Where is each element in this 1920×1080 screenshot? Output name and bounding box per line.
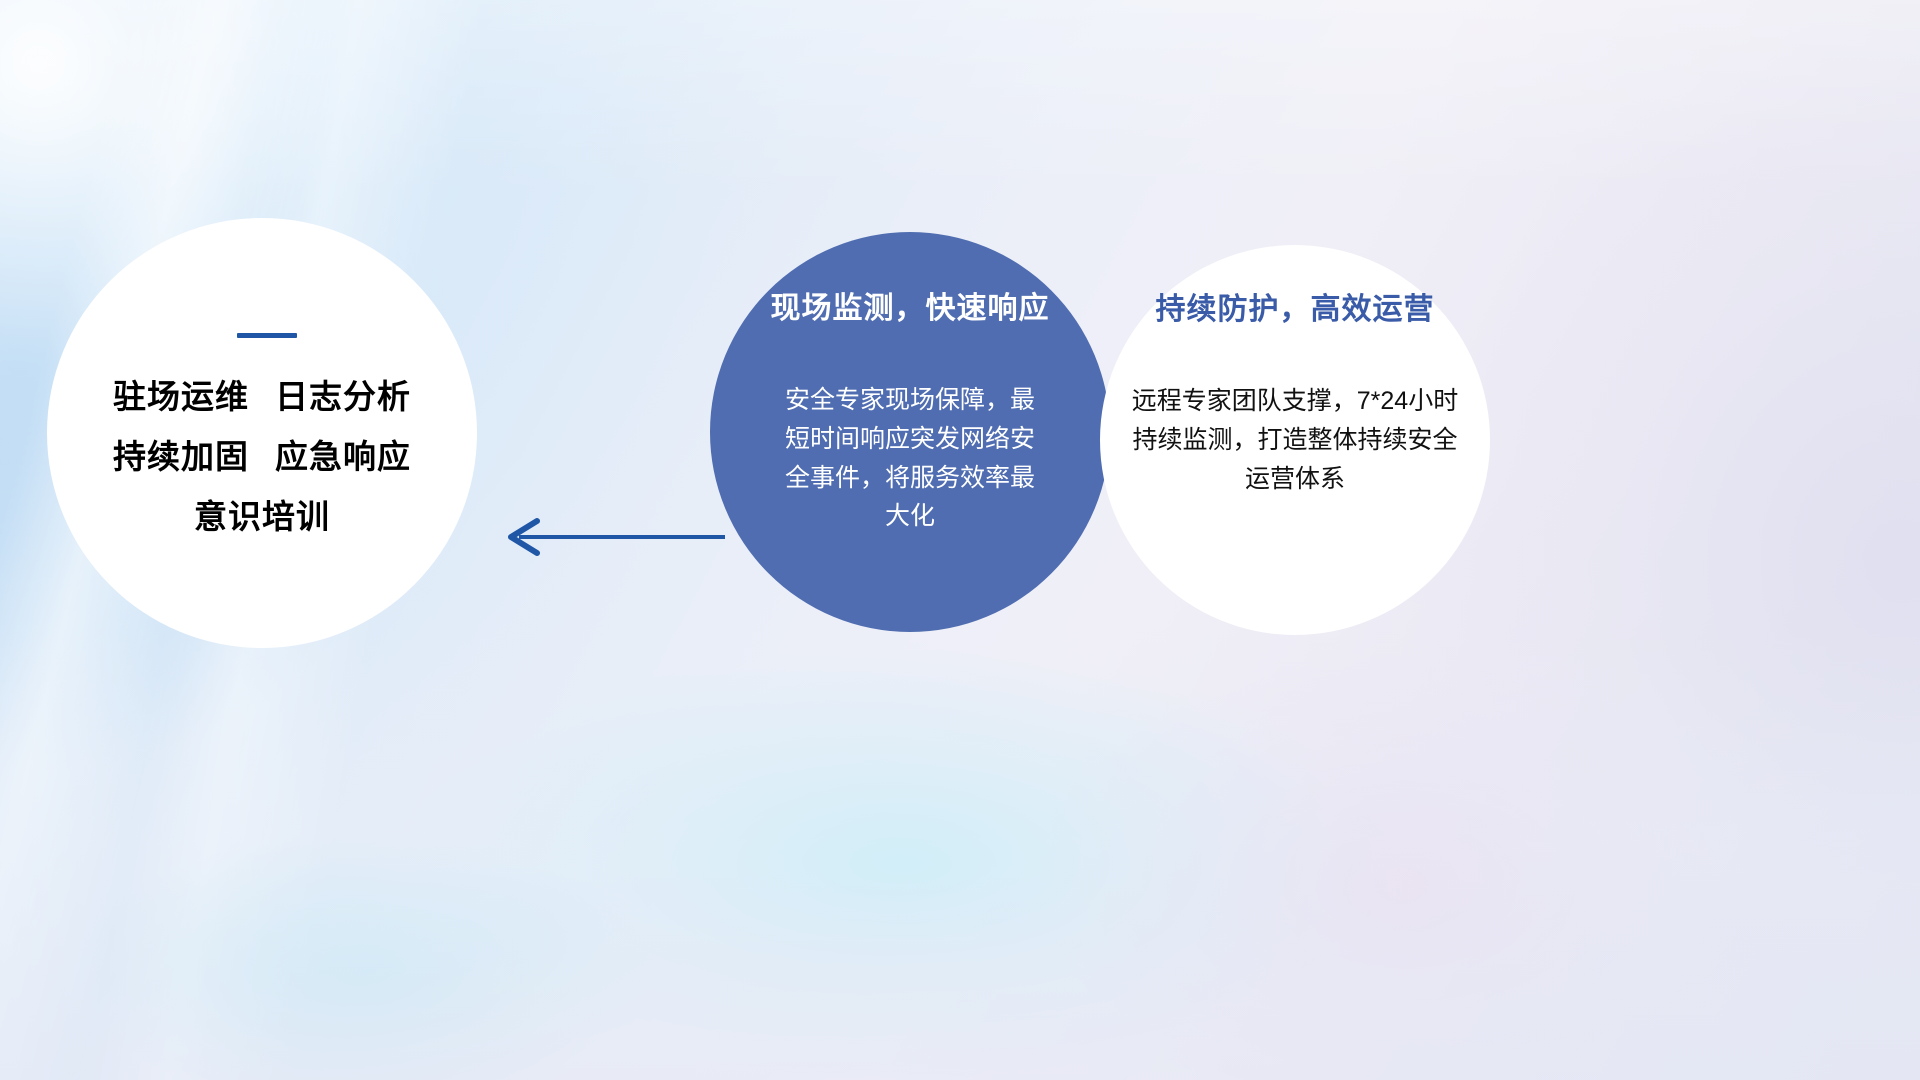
right-circle-content: 持续防护，高效运营 远程专家团队支撑，7*24小时持续监测，打造整体持续安全运营… bbox=[1100, 245, 1490, 635]
divider-rule-icon bbox=[237, 333, 297, 338]
middle-circle-body: 安全专家现场保障，最短时间响应突发网络安全事件，将服务效率最大化 bbox=[784, 381, 1036, 536]
left-item-yingji-xiangying: 应急响应 bbox=[275, 438, 411, 475]
flow-arrow-icon bbox=[495, 515, 725, 559]
slide-canvas: 驻场运维日志分析 持续加固应急响应 意识培训 现场监测，快速响应 安全专家现场保… bbox=[0, 0, 1920, 1080]
middle-circle-title: 现场监测，快速响应 bbox=[771, 292, 1050, 325]
left-circle-row-3: 意识培训 bbox=[194, 500, 330, 533]
left-circle-row-2: 持续加固应急响应 bbox=[113, 440, 411, 473]
right-circle-body: 远程专家团队支撑，7*24小时持续监测，打造整体持续安全运营体系 bbox=[1125, 382, 1465, 498]
left-circle-row-1: 驻场运维日志分析 bbox=[113, 380, 411, 413]
middle-circle-content: 现场监测，快速响应 安全专家现场保障，最短时间响应突发网络安全事件，将服务效率最… bbox=[710, 232, 1110, 632]
left-item-chixu-jiagu: 持续加固 bbox=[113, 438, 249, 475]
left-item-rizhi-fenxi: 日志分析 bbox=[275, 378, 411, 415]
right-circle-title: 持续防护，高效运营 bbox=[1156, 293, 1435, 326]
left-circle-content: 驻场运维日志分析 持续加固应急响应 意识培训 bbox=[47, 218, 477, 648]
left-item-zhuchang-yunwei: 驻场运维 bbox=[113, 378, 249, 415]
